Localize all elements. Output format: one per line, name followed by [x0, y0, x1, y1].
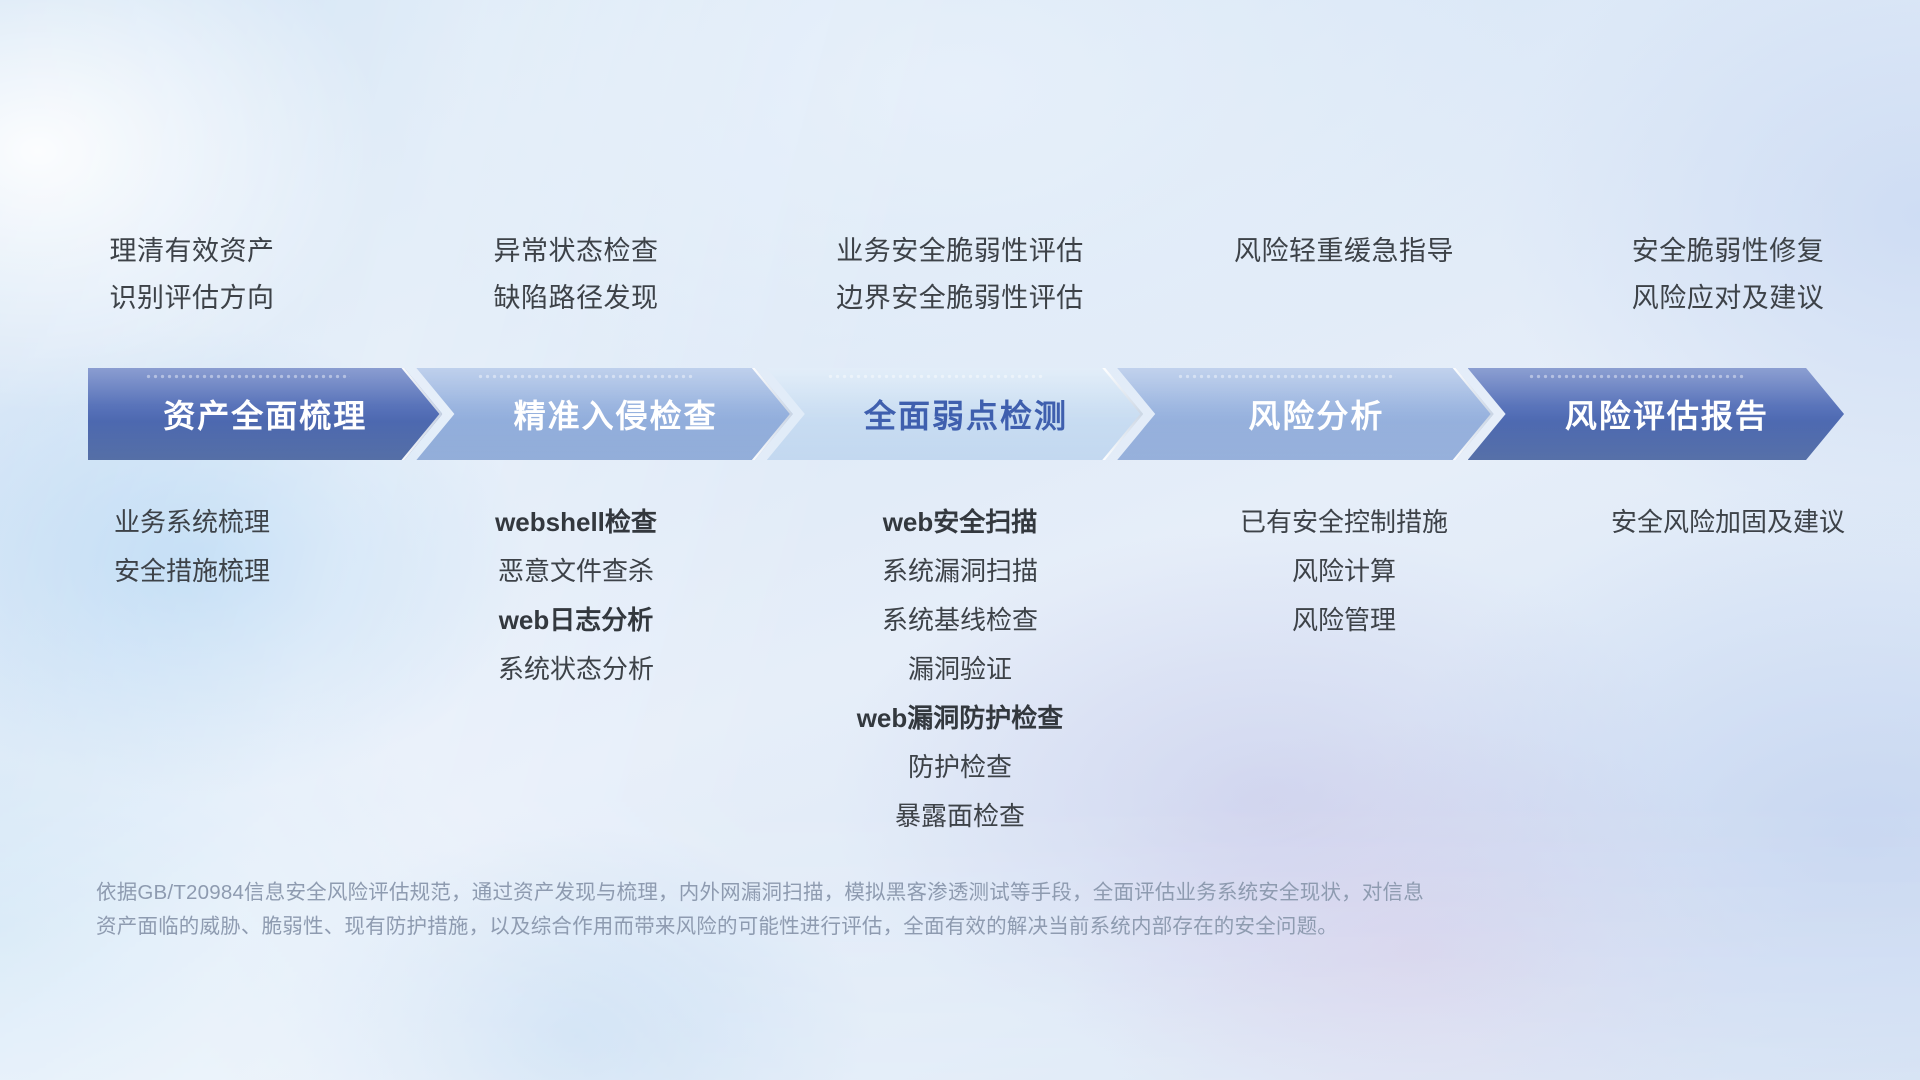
- bottom-list-stage-3: web安全扫描 系统漏洞扫描 系统基线检查 漏洞验证 web漏洞防护检查 防护检…: [768, 498, 1152, 841]
- bottom-list-stage-2: webshell检查 恶意文件查杀 web日志分析 系统状态分析: [384, 498, 768, 694]
- chevron-sparkle: [1177, 374, 1395, 379]
- chevron-stage-asset-inventory[interactable]: 资产全面梳理: [88, 368, 442, 460]
- top-captions-stage-2: 异常状态检查 缺陷路径发现: [384, 228, 768, 338]
- list-item: 恶意文件查杀: [384, 547, 768, 596]
- footer-line-1: 依据GB/T20984信息安全风险评估规范，通过资产发现与梳理，内外网漏洞扫描，…: [96, 876, 1706, 910]
- chevron-stage-risk-analysis[interactable]: 风险分析: [1117, 368, 1493, 460]
- top-caption-text: 业务安全脆弱性评估: [768, 228, 1152, 275]
- list-item: 系统状态分析: [384, 645, 768, 694]
- bottom-list-stage-5: 安全风险加固及建议: [1536, 498, 1920, 547]
- list-item: web漏洞防护检查: [768, 694, 1152, 743]
- list-item: 已有安全控制措施: [1152, 498, 1536, 547]
- list-item: 业务系统梳理: [0, 498, 384, 547]
- top-caption-text: 理清有效资产: [0, 228, 384, 275]
- list-item: 系统漏洞扫描: [768, 547, 1152, 596]
- chevron-stage-intrusion-check[interactable]: 精准入侵检查: [416, 368, 792, 460]
- top-caption-text: 缺陷路径发现: [384, 275, 768, 322]
- list-item: 暴露面检查: [768, 792, 1152, 841]
- top-captions-stage-1: 理清有效资产 识别评估方向: [0, 228, 384, 338]
- list-item: 安全风险加固及建议: [1536, 498, 1920, 547]
- chevron-label: 精准入侵检查: [514, 391, 718, 437]
- top-captions-stage-5: 安全脆弱性修复 风险应对及建议: [1536, 228, 1920, 338]
- chevron-stage-assessment-report[interactable]: 风险评估报告: [1468, 368, 1844, 460]
- top-caption-text: 异常状态检查: [384, 228, 768, 275]
- list-item: webshell检查: [384, 498, 768, 547]
- slide-canvas: 理清有效资产 识别评估方向 异常状态检查 缺陷路径发现 业务安全脆弱性评估 边界…: [0, 0, 1920, 1080]
- list-item: 风险管理: [1152, 596, 1536, 645]
- bottom-lists-row: 业务系统梳理 安全措施梳理 webshell检查 恶意文件查杀 web日志分析 …: [0, 498, 1920, 841]
- chevron-stage-weakness-detection[interactable]: 全面弱点检测: [767, 368, 1143, 460]
- top-captions-stage-3: 业务安全脆弱性评估 边界安全脆弱性评估: [768, 228, 1152, 338]
- top-captions-stage-4: 风险轻重缓急指导: [1152, 228, 1536, 338]
- list-item: 风险计算: [1152, 547, 1536, 596]
- list-item: 系统基线检查: [768, 596, 1152, 645]
- chevron-label: 风险评估报告: [1565, 391, 1769, 437]
- chevron-sparkle: [145, 374, 351, 379]
- top-caption-text: 风险应对及建议: [1536, 275, 1920, 322]
- chevron-label: 资产全面梳理: [163, 391, 367, 437]
- list-item: 安全措施梳理: [0, 547, 384, 596]
- list-item: 防护检查: [768, 743, 1152, 792]
- top-captions-row: 理清有效资产 识别评估方向 异常状态检查 缺陷路径发现 业务安全脆弱性评估 边界…: [0, 228, 1920, 338]
- list-item: web安全扫描: [768, 498, 1152, 547]
- bottom-list-stage-4: 已有安全控制措施 风险计算 风险管理: [1152, 498, 1536, 645]
- chevron-sparkle: [827, 374, 1045, 379]
- chevron-sparkle: [1528, 374, 1746, 379]
- footer-description: 依据GB/T20984信息安全风险评估规范，通过资产发现与梳理，内外网漏洞扫描，…: [96, 876, 1706, 944]
- top-caption-text: 风险轻重缓急指导: [1152, 228, 1536, 275]
- list-item: 漏洞验证: [768, 645, 1152, 694]
- process-chevron-band: 资产全面梳理 精准入侵检查 全面弱点检测 风险: [88, 368, 1844, 460]
- bottom-list-stage-1: 业务系统梳理 安全措施梳理: [0, 498, 384, 596]
- top-caption-text: 识别评估方向: [0, 275, 384, 322]
- chevron-label: 全面弱点检测: [864, 391, 1068, 437]
- footer-line-2: 资产面临的威胁、脆弱性、现有防护措施，以及综合作用而带来风险的可能性进行评估，全…: [96, 910, 1706, 944]
- list-item: web日志分析: [384, 596, 768, 645]
- top-caption-text: 边界安全脆弱性评估: [768, 275, 1152, 322]
- chevron-label: 风险分析: [1248, 391, 1384, 437]
- top-caption-text: 安全脆弱性修复: [1536, 228, 1920, 275]
- chevron-sparkle: [477, 374, 695, 379]
